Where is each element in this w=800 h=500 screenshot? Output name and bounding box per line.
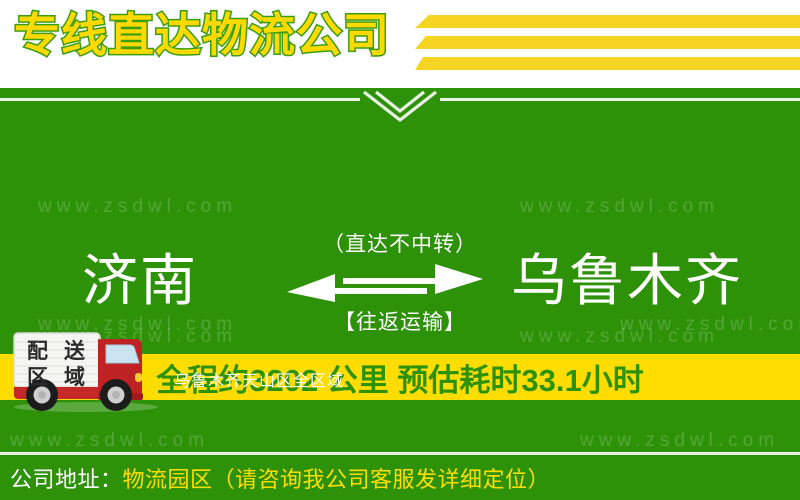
shipping-route-banner: 专线直达物流公司 www.zsdwl.com www.zsdwl.com www… (0, 0, 800, 500)
divider-line-left (0, 98, 360, 101)
direct-shipping-note: （直达不中转） (0, 228, 800, 258)
destination-city: 乌鲁木齐 (511, 253, 743, 309)
watermark: www.zsdwl.com (10, 430, 209, 452)
banner-header: 专线直达物流公司 (0, 0, 800, 88)
chevron-down-icon (360, 90, 440, 122)
company-title: 专线直达物流公司 (14, 6, 390, 64)
delivery-area-text: 乌鲁木齐天山区全区域 (174, 367, 344, 391)
stripe-3 (415, 57, 800, 70)
watermark: www.zsdwl.com (520, 196, 719, 218)
header-stripes-decoration (415, 13, 800, 75)
origin-city: 济南 (82, 253, 198, 309)
watermark: www.zsdwl.com (38, 196, 237, 218)
stripe-2 (415, 36, 800, 49)
stripe-1 (415, 15, 800, 28)
delivery-truck-icon (6, 325, 166, 415)
banner-footer: 公司地址： 物流园区（请咨询我公司客服发详细定位） (0, 455, 800, 500)
company-address-value: 物流园区（请咨询我公司客服发详细定位） (123, 462, 551, 494)
company-address-label: 公司地址： (0, 462, 123, 494)
watermark: www.zsdwl.com (580, 430, 779, 452)
divider-line-right (440, 98, 800, 101)
bidirectional-arrow-icon (285, 262, 485, 304)
